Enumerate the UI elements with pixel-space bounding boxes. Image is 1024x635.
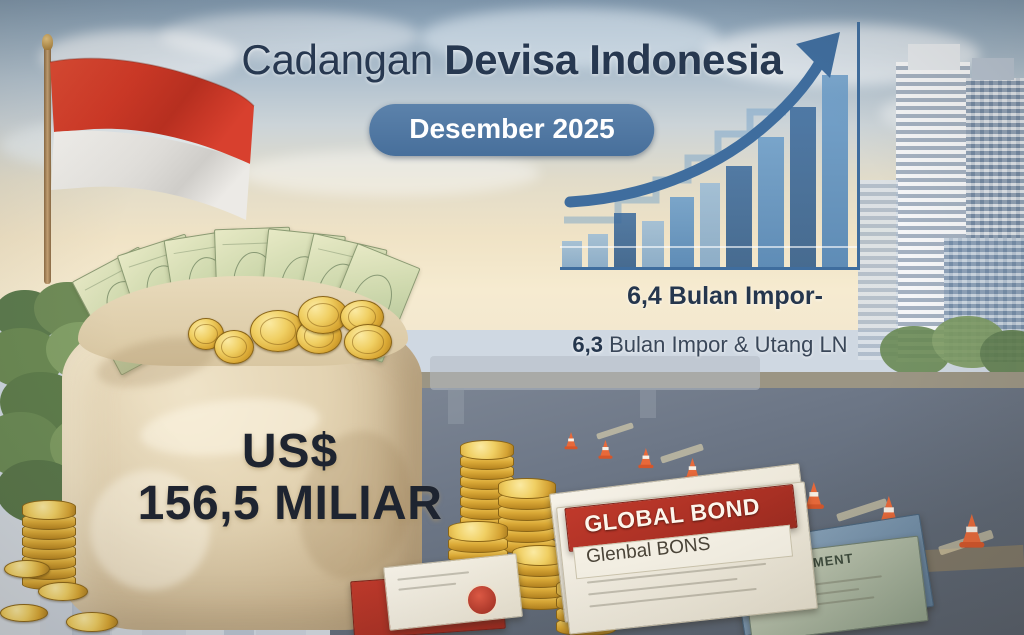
page-title: Cadangan Devisa Indonesia	[0, 38, 1024, 82]
stat-import-debt-months: 6,3 Bulan Impor & Utang LN	[500, 332, 920, 358]
amount-value: 156,5 MILIAR	[120, 480, 460, 528]
gold-coin-flat	[66, 612, 118, 632]
reserve-amount: US$ 156,5 MILIAR	[120, 428, 460, 528]
gold-coin-flat	[0, 604, 48, 622]
overpass	[430, 356, 760, 390]
gold-coin	[214, 330, 254, 364]
stat-import-months: 6,4 Bulan Impor-	[560, 282, 890, 311]
gold-coin-flat	[38, 582, 88, 601]
document-seal	[466, 584, 498, 616]
title-bold-part: Devisa Indonesia	[444, 36, 782, 83]
overpass-pillar	[448, 388, 464, 424]
stat-secondary-text: Bulan Impor & Utang LN	[603, 332, 848, 357]
chart-x-axis	[560, 267, 860, 270]
chart-gridline	[560, 246, 860, 248]
gold-coin-flat	[4, 560, 50, 578]
gold-coin	[344, 324, 392, 360]
amount-currency: US$	[242, 425, 338, 478]
overpass-pillar	[640, 388, 656, 418]
period-badge: Desember 2025	[369, 104, 654, 156]
title-regular-part: Cadangan	[241, 36, 444, 83]
stat-secondary-value: 6,3	[572, 332, 603, 357]
infographic-canvas: US$ 156,5 MILIAR	[0, 0, 1024, 635]
